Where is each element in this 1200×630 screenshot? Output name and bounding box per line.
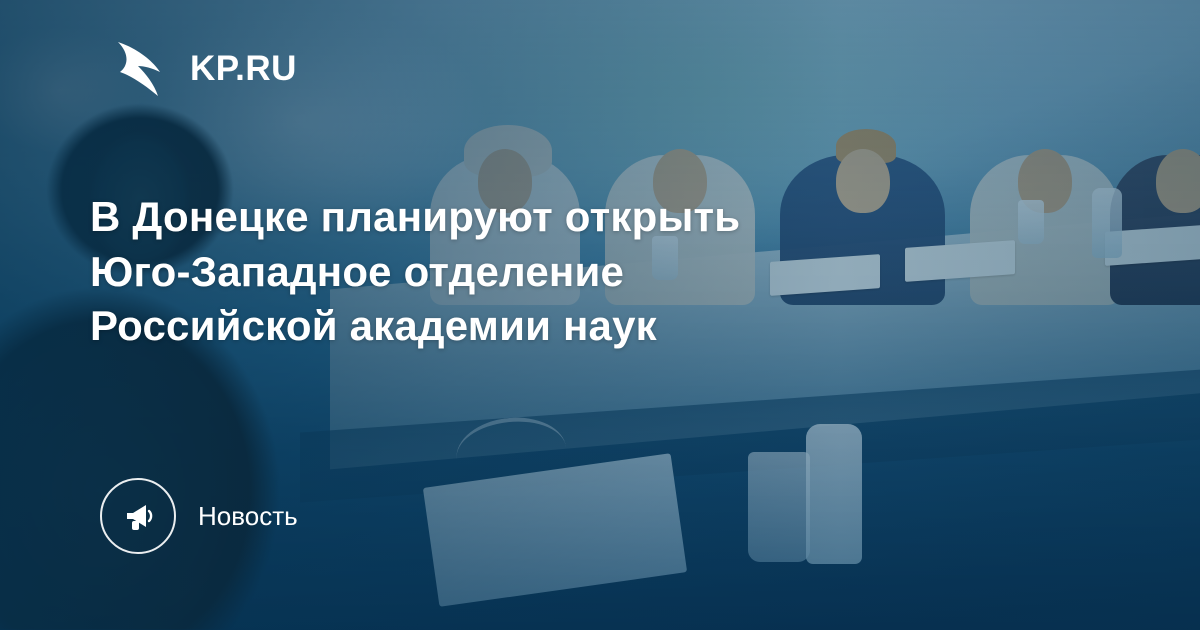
megaphone-icon: [100, 478, 176, 554]
brand-name: KP.RU: [190, 49, 297, 89]
news-share-card: KP.RU В Донецке планируют открыть Юго-За…: [0, 0, 1200, 630]
category-badge[interactable]: Новость: [100, 478, 298, 554]
headline-line-3: Российской академии наук: [90, 299, 990, 354]
kp-bird-logo-icon: [108, 38, 174, 100]
status-badge: Новость: [198, 501, 298, 532]
headline-line-2: Юго-Западное отделение: [90, 245, 990, 300]
page-title: В Донецке планируют открыть Юго-Западное…: [90, 190, 990, 354]
brand-logo[interactable]: KP.RU: [108, 38, 297, 100]
headline-line-1: В Донецке планируют открыть: [90, 190, 990, 245]
